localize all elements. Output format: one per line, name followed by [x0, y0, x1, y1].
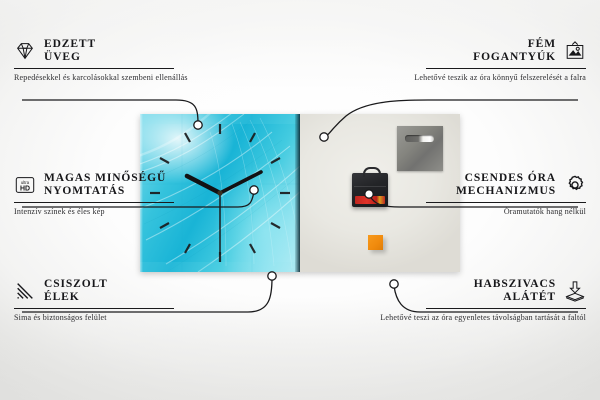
callout-polished-edges: CSISZOLT ÉLEK Sima és biztonságos felüle…	[14, 278, 224, 324]
marker-edges	[268, 272, 276, 280]
callout-title-line1: HABSZIVACS	[474, 278, 556, 291]
callout-rule	[426, 68, 586, 69]
callout-title-line1: MAGAS MINŐSÉGŰ	[44, 172, 166, 185]
foam-pad	[368, 235, 383, 250]
callout-header: ultra HD MAGAS MINŐSÉGŰ NYOMTATÁS	[14, 172, 224, 198]
callout-header: FÉM FOGANTYÚK	[372, 38, 586, 64]
picture-frame-hook-icon	[564, 40, 586, 62]
callout-title-line1: EDZETT	[44, 38, 96, 51]
callout-foam-pad: HABSZIVACS ALÁTÉT Lehetővé teszi az óra …	[372, 278, 586, 324]
diamond-icon	[14, 40, 36, 62]
metal-hanger-plate	[397, 126, 443, 171]
callout-header: EDZETT ÜVEG	[14, 38, 224, 64]
callout-tempered-glass: EDZETT ÜVEG Repedésekkel és karcolásokka…	[14, 38, 224, 84]
ultra-hd-icon: ultra HD	[14, 174, 36, 196]
infographic-canvas: EDZETT ÜVEG Repedésekkel és karcolásokka…	[0, 0, 600, 400]
callout-title-line2: MECHANIZMUS	[456, 185, 556, 198]
callout-description: Sima és biztonságos felület	[14, 313, 224, 324]
callout-silent-mechanism: CSENDES ÓRA MECHANIZMUS Óramutatók hang …	[372, 172, 586, 218]
gear-icon	[564, 174, 586, 196]
callout-description: Lehetővé teszik az óra könnyű felszerelé…	[372, 73, 586, 84]
callout-description: Intenzív színek és éles kép	[14, 207, 224, 218]
foam-pad-arrow-icon	[564, 280, 586, 302]
callout-description: Óramutatók hang nélkül	[372, 207, 586, 218]
callout-title-line1: CSISZOLT	[44, 278, 108, 291]
callout-header: CSISZOLT ÉLEK	[14, 278, 224, 304]
callout-description: Lehetővé teszi az óra egyenletes távolsá…	[372, 313, 586, 324]
callout-rule	[426, 308, 586, 309]
svg-text:HD: HD	[20, 186, 30, 193]
callout-metal-hooks: FÉM FOGANTYÚK Lehetővé teszik az óra kön…	[372, 38, 586, 84]
callout-rule	[14, 68, 174, 69]
polished-edges-icon	[14, 280, 36, 302]
callout-description: Repedésekkel és karcolásokkal szembeni e…	[14, 73, 224, 84]
callout-rule	[426, 202, 586, 203]
callout-header: CSENDES ÓRA MECHANIZMUS	[372, 172, 586, 198]
callout-hd-print: ultra HD MAGAS MINŐSÉGŰ NYOMTATÁS Intenz…	[14, 172, 224, 218]
callout-title-line1: CSENDES ÓRA	[456, 172, 556, 185]
callout-title-line2: FOGANTYÚK	[473, 51, 556, 64]
callout-header: HABSZIVACS ALÁTÉT	[372, 278, 586, 304]
callout-title-line2: ALÁTÉT	[474, 291, 556, 304]
hanger-keyhole-slot	[405, 135, 434, 142]
svg-text:ultra: ultra	[21, 180, 30, 185]
callout-title-line2: ÉLEK	[44, 291, 108, 304]
callout-rule	[14, 202, 174, 203]
callout-title-line1: FÉM	[473, 38, 556, 51]
callout-rule	[14, 308, 174, 309]
callout-title-line2: ÜVEG	[44, 51, 96, 64]
callout-title-line2: NYOMTATÁS	[44, 185, 166, 198]
